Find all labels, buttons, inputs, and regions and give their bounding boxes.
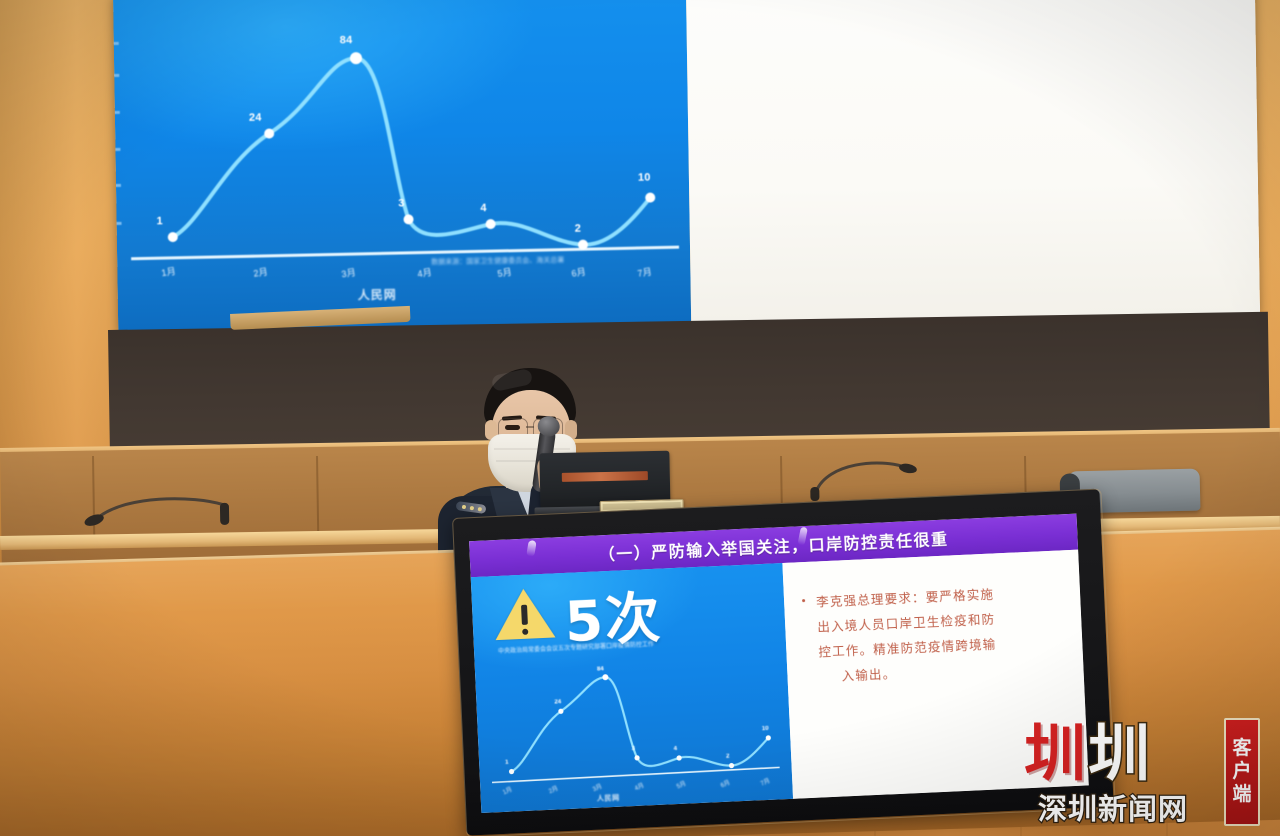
chart-source-note: 数据来源：国家卫生健康委员会、海关总署: [431, 255, 564, 267]
peoples-daily-logo: 人民网: [597, 793, 620, 804]
data-label: 4: [674, 746, 678, 752]
y-axis-tick: [113, 111, 120, 114]
data-label: 2: [575, 223, 582, 235]
monitor-slide-left: 5次 中央政治局常委会会议五次专题研究部署口岸疫情防控工作 1: [471, 563, 793, 813]
y-axis-tick: [113, 148, 120, 151]
monitor-text-block: 李克强总理要求：要严格实施 出入境人员口岸卫生检疫和防 控工作。精准防范疫情跨境…: [816, 578, 1072, 689]
screenshot-root: 新冠肺炎疫情期间出入境人员健康申报，口岸检疫排查情况: [0, 0, 1280, 836]
peoples-daily-logo: 人民网: [358, 286, 397, 304]
slide-left-panel: 新冠肺炎疫情期间出入境人员健康申报，口岸检疫排查情况: [113, 0, 691, 332]
x-axis-tick-label: 2月: [252, 265, 268, 280]
monitor-chart-svg: [483, 659, 784, 796]
data-label: 4: [480, 202, 487, 214]
x-axis-tick-label: 7月: [636, 265, 652, 280]
watermark: 圳 圳 深圳新闻网 客 户 端: [1024, 716, 1272, 828]
projection-screen: 新冠肺炎疫情期间出入境人员健康申报，口岸检疫排查情况: [113, 0, 1260, 332]
y-axis-tick: [115, 222, 122, 225]
data-label: 3: [632, 746, 636, 752]
x-axis-tick-label: 3月: [340, 265, 356, 280]
data-label: 84: [340, 34, 353, 46]
x-axis-tick-label: 5月: [496, 265, 512, 280]
x-axis-tick-label: 4月: [416, 265, 432, 280]
laptop-sticker: [562, 471, 648, 482]
glasses-bridge: [526, 426, 534, 428]
watermark-char-2: 圳: [1088, 723, 1150, 785]
monitor-line-chart: 1 24 84 3 4 2 10 1月 2月 3月 4月 5月 6月 7月: [483, 659, 784, 796]
watermark-subtitle: 深圳新闻网: [1038, 786, 1188, 828]
data-label: 1: [156, 215, 163, 227]
warning-exclamation: [521, 605, 528, 625]
tag-char-3: 端: [1232, 785, 1251, 805]
y-axis-tick: [113, 42, 119, 45]
microphone-icon: [84, 487, 235, 534]
data-label: 1: [505, 760, 509, 766]
data-label: 24: [249, 112, 262, 124]
monitor-screen: （一）严防输入举国关注，口岸防控责任很重 5次 中央政治局常委会会议五次专题研究…: [469, 514, 1089, 813]
watermark-char-1: 圳: [1024, 723, 1086, 785]
front-monitor: （一）严防输入举国关注，口岸防控责任很重 5次 中央政治局常委会会议五次专题研究…: [452, 489, 1114, 836]
slide-right-panel: 李克强总理要求：要严格实施 出入境人员口岸卫生检疫和防 控工作。精准防范疫情跨境…: [686, 0, 1260, 323]
microphone-icon: [800, 449, 951, 496]
chart-svg: [127, 15, 679, 279]
y-axis-tick: [113, 74, 119, 77]
data-label: 2: [726, 754, 730, 760]
y-axis-tick: [114, 184, 121, 187]
tag-char-2: 户: [1232, 762, 1251, 782]
data-label: 84: [597, 666, 604, 672]
watermark-logo: 圳 圳: [1024, 716, 1216, 792]
line-chart: 1 24 84 3 4 2 10 1月 2月 3月 4月 5月 6月 7月 数据…: [127, 15, 679, 279]
tag-char-1: 客: [1232, 739, 1251, 759]
data-label: 24: [554, 699, 561, 705]
data-label: 3: [398, 197, 405, 209]
bullet-icon: [802, 599, 805, 602]
data-label: 10: [638, 172, 651, 184]
x-axis-tick-label: 1月: [160, 264, 176, 279]
data-label: 10: [762, 726, 769, 732]
x-axis-tick-label: 6月: [570, 265, 586, 280]
watermark-client-tag: 客 户 端: [1224, 718, 1260, 826]
